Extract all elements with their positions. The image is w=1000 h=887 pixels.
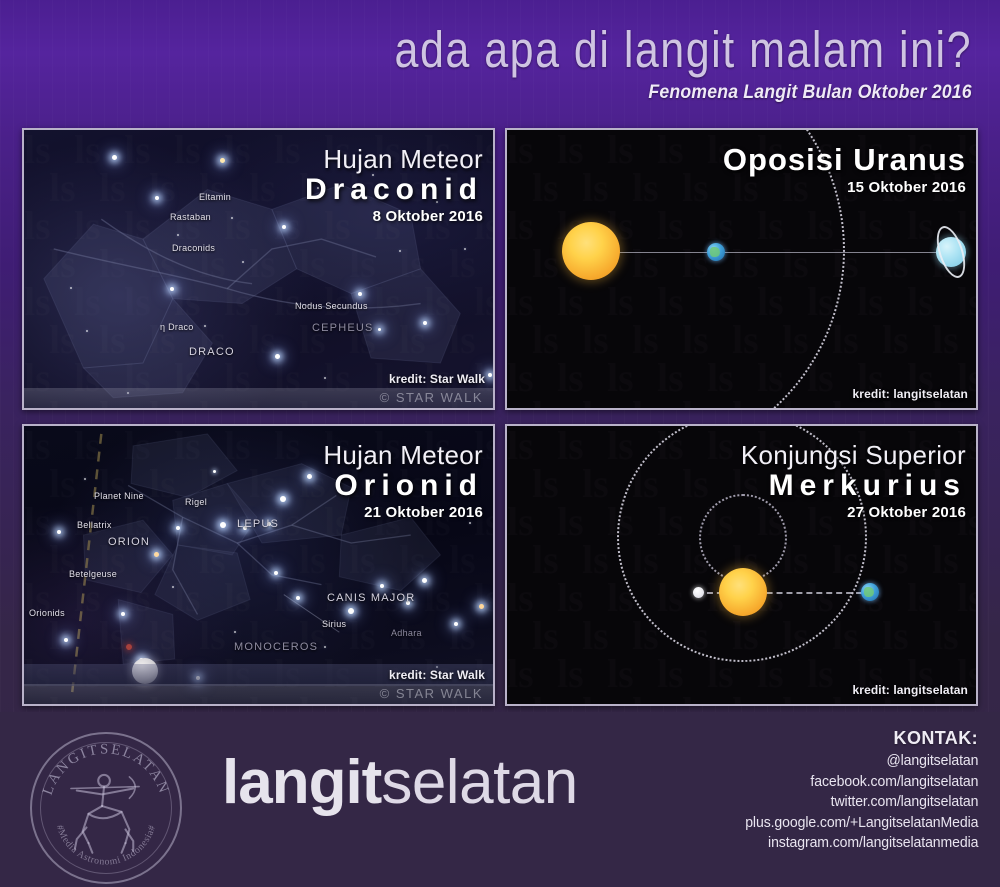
star xyxy=(112,155,117,160)
star xyxy=(220,158,225,163)
panel-name: Oposisi Uranus xyxy=(723,142,966,178)
logo-artwork: LANGITSELATAN #Media Astronomi Indonesia… xyxy=(32,734,180,882)
sky-label: Draconids xyxy=(172,243,215,253)
sky-label: Eltamin xyxy=(199,192,231,202)
star xyxy=(348,608,354,614)
sky-label: Adhara xyxy=(391,628,422,638)
sun-body xyxy=(719,568,767,616)
sky-label: Rastaban xyxy=(170,212,211,222)
star xyxy=(399,250,401,252)
sky-label: η Draco xyxy=(160,322,194,332)
panel-credit: kredit: Star Walk xyxy=(389,372,485,386)
sky-label: CEPHEUS xyxy=(312,322,374,334)
panel-credit: kredit: Star Walk xyxy=(389,668,485,682)
panel-draconid[interactable]: lslslslslslslslslslslslslslslslslslslsls… xyxy=(22,128,495,410)
contact-googleplus[interactable]: plus.google.com/+LangitselatanMedia xyxy=(745,813,978,834)
panel-name: Draconid xyxy=(305,173,483,207)
contact-handle[interactable]: @langitselatan xyxy=(745,751,978,772)
sky-label: Nodus Secundus xyxy=(295,301,368,311)
panel-name: Orionid xyxy=(323,469,483,503)
star xyxy=(84,478,86,480)
star xyxy=(280,496,286,502)
star xyxy=(282,225,286,229)
star xyxy=(234,631,236,633)
star xyxy=(464,248,466,250)
star xyxy=(86,330,88,332)
poster-footer: LANGITSELATAN #Media Astronomi Indonesia… xyxy=(0,712,1000,887)
panel-credit: kredit: langitselatan xyxy=(853,683,968,697)
star xyxy=(176,526,180,530)
panel-name: Merkurius xyxy=(741,469,966,503)
star xyxy=(170,287,174,291)
star xyxy=(324,646,326,648)
poster-root: ada apa di langit malam ini? Fenomena La… xyxy=(0,0,1000,887)
sky-label: Planet Nine xyxy=(94,491,144,501)
panel-kicker: Konjungsi Superior xyxy=(741,440,966,471)
sky-label: Bellatrix xyxy=(77,520,112,530)
sky-label: Rigel xyxy=(185,497,207,507)
contact-block: KONTAK: @langitselatan facebook.com/lang… xyxy=(738,728,978,854)
sky-label: Sirius xyxy=(322,619,346,629)
star xyxy=(488,373,492,377)
panel-konjungsi-merkurius[interactable]: lslslslslslslslslslslslslslslslslslslsls… xyxy=(505,424,978,706)
star xyxy=(204,325,206,327)
star xyxy=(307,474,312,479)
mercury-body xyxy=(693,587,704,598)
alignment-line xyxy=(603,252,963,253)
panel-title-draconid: Hujan Meteor Draconid 8 Oktober 2016 xyxy=(305,144,483,225)
red-nebula-marker xyxy=(126,644,132,650)
panel-title-orionid: Hujan Meteor Orionid 21 Oktober 2016 xyxy=(323,440,483,521)
earth-body xyxy=(861,583,879,601)
page-title: ada apa di langit malam ini? xyxy=(395,22,972,80)
star xyxy=(121,612,125,616)
star xyxy=(378,328,381,331)
star xyxy=(469,522,471,524)
star xyxy=(454,622,458,626)
panel-credit: kredit: langitselatan xyxy=(853,387,968,401)
star xyxy=(296,596,300,600)
star xyxy=(155,196,159,200)
panel-title-merkurius: Konjungsi Superior Merkurius 27 Oktober … xyxy=(741,440,966,521)
panel-date: 21 Oktober 2016 xyxy=(323,504,483,521)
star xyxy=(324,377,326,379)
star xyxy=(177,234,179,236)
star xyxy=(57,530,61,534)
star xyxy=(64,638,68,642)
star xyxy=(70,287,72,289)
star xyxy=(358,292,362,296)
star xyxy=(380,584,384,588)
star xyxy=(479,604,484,609)
sky-label: ORION xyxy=(108,536,150,548)
panel-kicker: Hujan Meteor xyxy=(323,440,483,471)
panel-oposisi-uranus[interactable]: lslslslslslslslslslslslslslslslslslslsls… xyxy=(505,128,978,410)
star xyxy=(213,470,216,473)
starwalk-watermark-bar: © STAR WALK xyxy=(24,684,493,704)
brand-wordmark: langitselatan xyxy=(222,752,578,814)
sky-label: Betelgeuse xyxy=(69,569,117,579)
star xyxy=(231,217,233,219)
starwalk-watermark-bar: © STAR WALK xyxy=(24,388,493,408)
contact-twitter[interactable]: twitter.com/langitselatan xyxy=(745,792,978,813)
panel-date: 15 Oktober 2016 xyxy=(723,179,966,196)
poster-header: ada apa di langit malam ini? Fenomena La… xyxy=(0,0,1000,118)
star xyxy=(242,261,244,263)
starwalk-watermark-text: © STAR WALK xyxy=(380,686,483,701)
sky-label: MONOCEROS xyxy=(234,641,318,653)
starwalk-watermark-text: © STAR WALK xyxy=(380,390,483,405)
wordmark-bold: langit xyxy=(222,748,381,817)
panel-date: 8 Oktober 2016 xyxy=(305,208,483,225)
panel-orionid[interactable]: lslslslslslslslslslslslslslslslslslslsls… xyxy=(22,424,495,706)
sun-body xyxy=(562,222,620,280)
sky-label: Orionids xyxy=(29,608,65,618)
star xyxy=(423,321,427,325)
star xyxy=(275,354,280,359)
sky-label: DRACO xyxy=(189,346,235,358)
earth-body xyxy=(707,243,725,261)
logo-bottom-arc-text: #Media Astronomi Indonesia# xyxy=(54,824,158,868)
contact-heading: KONTAK: xyxy=(738,728,978,749)
star xyxy=(274,571,278,575)
panel-date: 27 Oktober 2016 xyxy=(741,504,966,521)
contact-instagram[interactable]: instagram.com/langitselatanmedia xyxy=(745,833,978,854)
logo-top-arc-text: LANGITSELATAN xyxy=(40,741,172,797)
sagittarius-archer-icon xyxy=(71,775,139,853)
sky-label: CANIS MAJOR xyxy=(327,592,415,604)
wordmark-light: selatan xyxy=(381,748,577,817)
sky-label: LEPUS xyxy=(237,518,279,530)
contact-facebook[interactable]: facebook.com/langitselatan xyxy=(745,772,978,793)
page-subtitle: Fenomena Langit Bulan Oktober 2016 xyxy=(649,82,972,104)
panel-title-uranus: Oposisi Uranus 15 Oktober 2016 xyxy=(723,144,966,196)
star xyxy=(220,522,226,528)
star xyxy=(154,552,159,557)
panel-kicker: Hujan Meteor xyxy=(305,144,483,175)
langitselatan-logo[interactable]: LANGITSELATAN #Media Astronomi Indonesia… xyxy=(30,732,182,884)
star xyxy=(172,586,174,588)
star xyxy=(422,578,427,583)
